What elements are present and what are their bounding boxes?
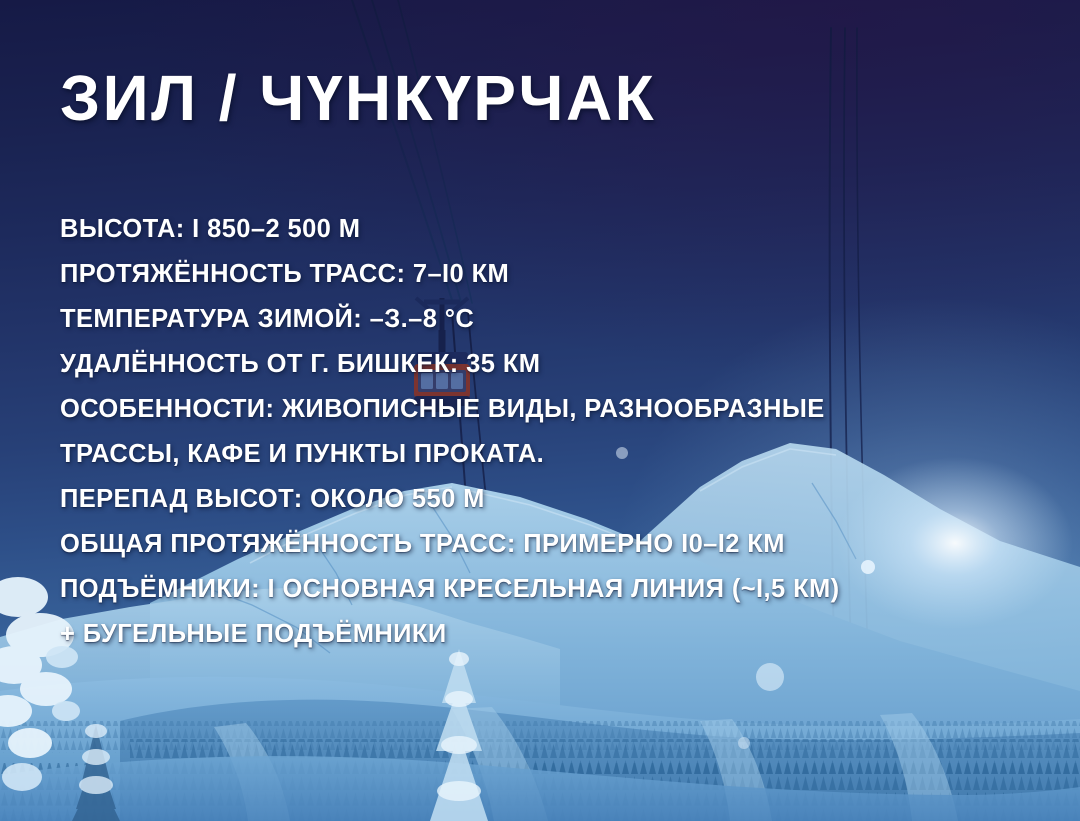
ski-resort-info-poster: ЗИЛ / ЧҮНКҮРЧАК ВЫСОТА: I 850–2 500 М ПР… bbox=[0, 0, 1080, 821]
poster-content: ЗИЛ / ЧҮНКҮРЧАК ВЫСОТА: I 850–2 500 М ПР… bbox=[0, 0, 1080, 821]
fact-altitude: ВЫСОТА: I 850–2 500 М bbox=[60, 207, 840, 252]
facts-list: ВЫСОТА: I 850–2 500 М ПРОТЯЖЁННОСТЬ ТРАС… bbox=[60, 207, 840, 657]
fact-total-length: ОБЩАЯ ПРОТЯЖЁННОСТЬ ТРАСС: ПРИМЕРНО I0–I… bbox=[60, 522, 840, 567]
fact-lifts-line-2: + БУГЕЛЬНЫЕ ПОДЪЁМНИКИ bbox=[60, 612, 840, 657]
page-title: ЗИЛ / ЧҮНКҮРЧАК bbox=[60, 61, 656, 135]
fact-features-line-2: ТРАССЫ, КАФЕ И ПУНКТЫ ПРОКАТА. bbox=[60, 432, 840, 477]
fact-features-line-1: ОСОБЕННОСТИ: ЖИВОПИСНЫЕ ВИДЫ, РАЗНООБРАЗ… bbox=[60, 387, 840, 432]
fact-slope-length: ПРОТЯЖЁННОСТЬ ТРАСС: 7–I0 КМ bbox=[60, 252, 840, 297]
fact-winter-temp: ТЕМПЕРАТУРА ЗИМОЙ: –З.–8 °С bbox=[60, 297, 840, 342]
fact-vertical-drop: ПЕРЕПАД ВЫСОТ: ОКОЛО 550 М bbox=[60, 477, 840, 522]
fact-lifts-line-1: ПОДЪЁМНИКИ: I ОСНОВНАЯ КРЕСЕЛЬНАЯ ЛИНИЯ … bbox=[60, 567, 840, 612]
fact-distance: УДАЛЁННОСТЬ ОТ Г. БИШКЕК: 35 КМ bbox=[60, 342, 840, 387]
